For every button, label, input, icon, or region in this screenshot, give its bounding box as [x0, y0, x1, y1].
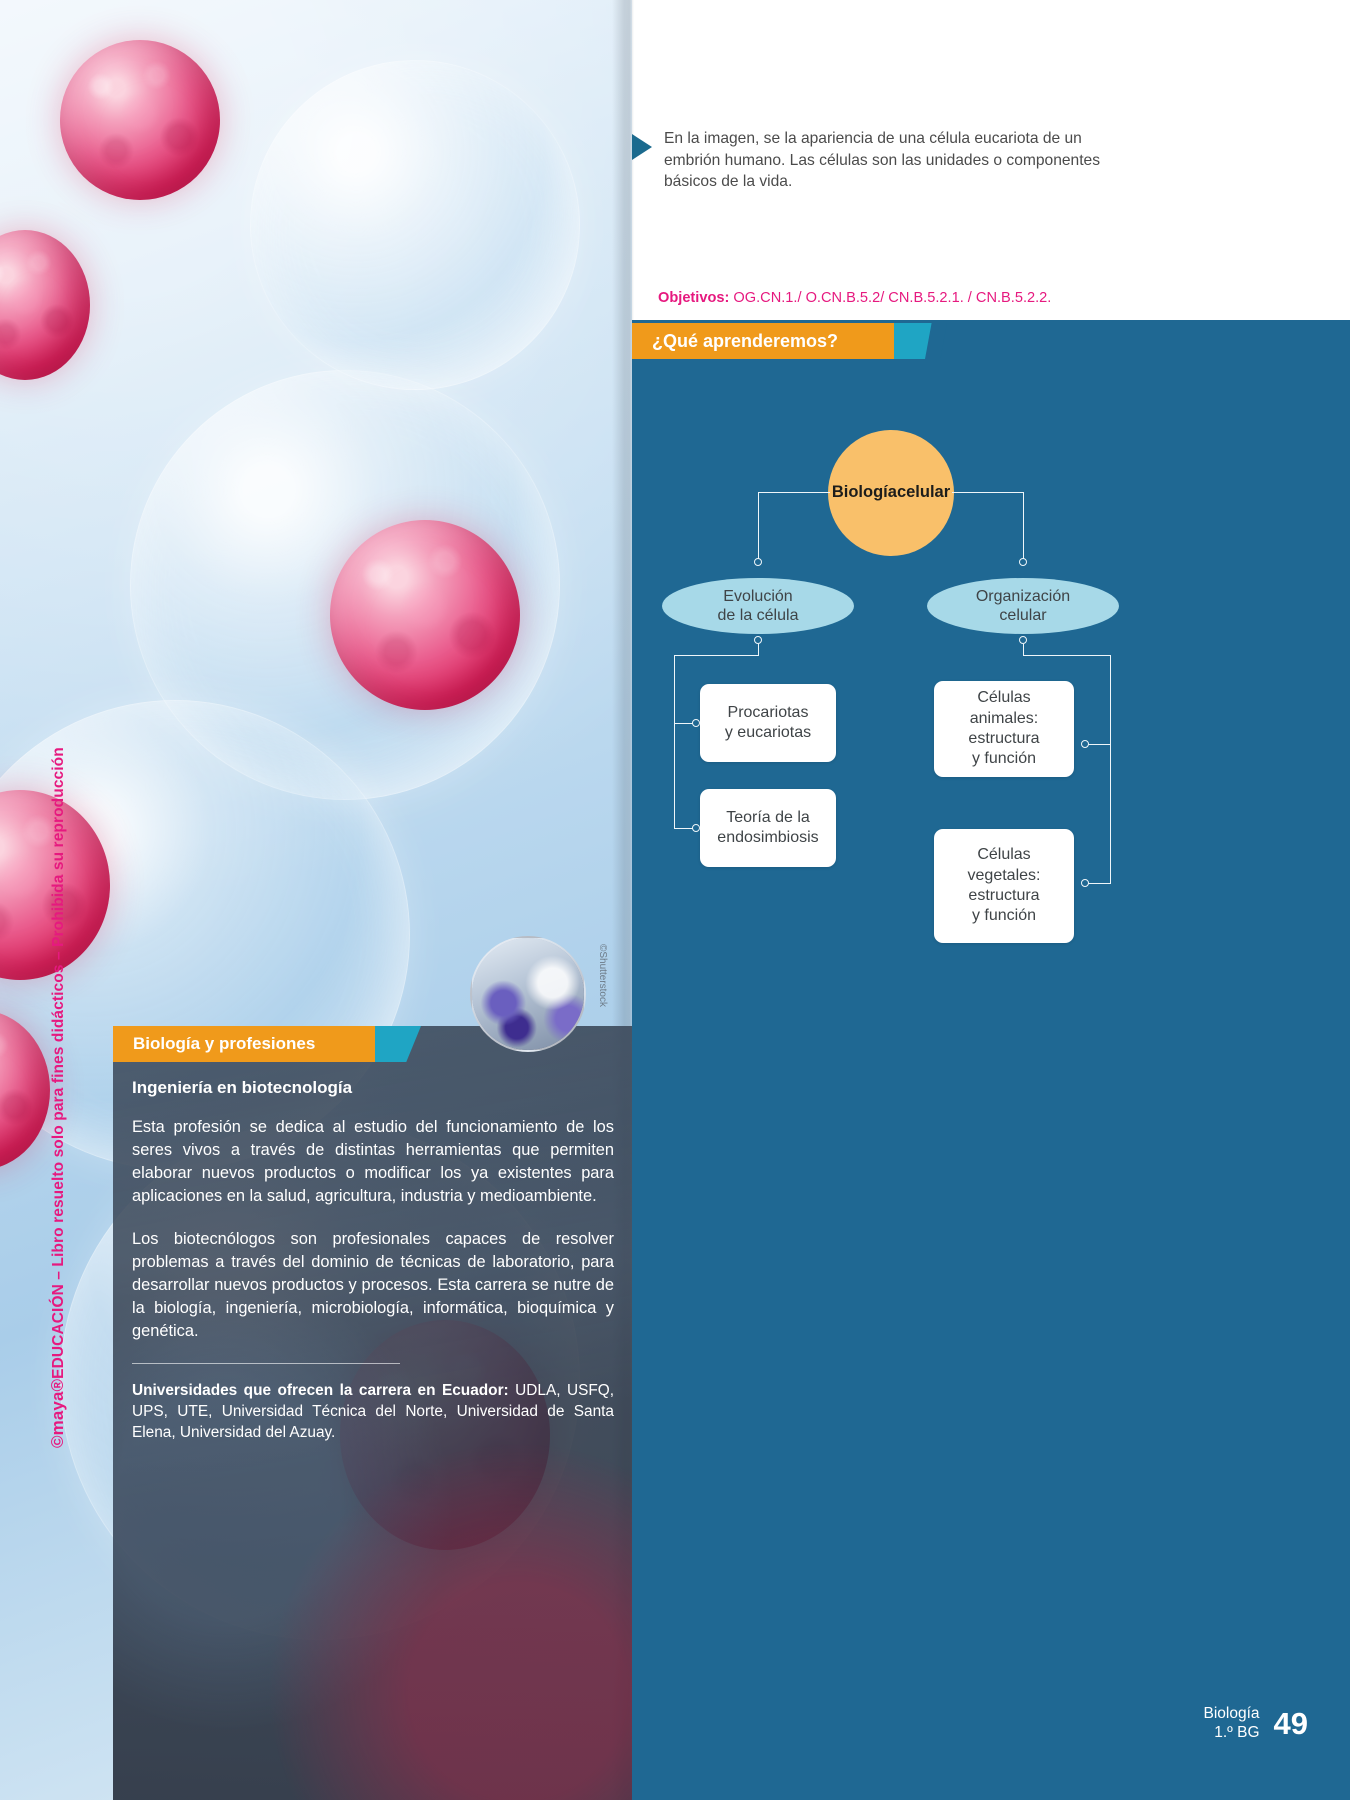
connector-dot	[1019, 558, 1027, 566]
scientist-photo-avatar	[470, 936, 586, 1052]
triangle-bullet-icon	[632, 134, 652, 160]
profession-paragraph-1: Esta profesión se dedica al estudio del …	[132, 1116, 614, 1208]
connector-dot	[692, 719, 700, 727]
copyright-strip-text: EDUCACIÓN – Libro resuelto solo para fin…	[50, 747, 67, 1379]
page-number: 49	[1274, 1706, 1308, 1742]
biologia-profesiones-label: Biología y profesiones	[133, 1034, 315, 1054]
concept-leaf-celulas-vegetales: Células vegetales: estructura y función	[934, 829, 1074, 943]
photo-credit-label: ©Shutterstock	[597, 944, 608, 1007]
objetivos-label: Objetivos:	[658, 290, 729, 306]
branch-organizacion-line2: celular	[999, 607, 1046, 624]
leaf-procariotas-line1: Procariotas y eucariotas	[725, 704, 811, 741]
concept-branch-evolucion: Evolución de la célula	[662, 578, 854, 634]
connector-line	[1088, 744, 1111, 745]
leaf-celulas-animales-text: Células animales: estructura y función	[968, 689, 1039, 767]
branch-evolucion-line2: de la célula	[718, 607, 799, 624]
lab-photo	[472, 938, 584, 1050]
concept-root-line1: Biología	[832, 483, 897, 502]
image-caption: En la imagen, se la apariencia de una cé…	[632, 128, 1132, 193]
universities-line: Universidades que ofrecen la carrera en …	[132, 1380, 614, 1444]
branch-organizacion-line1: Organización	[976, 588, 1070, 605]
connector-line	[674, 655, 759, 656]
connector-dot	[1081, 879, 1089, 887]
connector-dot	[1019, 636, 1027, 644]
concept-root-line2: celular	[897, 483, 950, 502]
concept-leaf-procariotas: Procariotas y eucariotas	[700, 684, 836, 762]
connector-line	[1023, 655, 1111, 656]
objetivos-codes: OG.CN.1./ O.CN.B.5.2/ CN.B.5.2.1. / CN.B…	[729, 290, 1051, 306]
connector-dot	[754, 636, 762, 644]
bubble-shape	[250, 60, 580, 390]
concept-leaf-celulas-animales: Células animales: estructura y función	[934, 681, 1074, 777]
connector-line	[952, 492, 1024, 493]
caption-text: En la imagen, se la apariencia de una cé…	[664, 128, 1112, 193]
concept-root-node: Biología celular	[828, 430, 954, 556]
que-aprenderemos-banner: ¿Qué aprenderemos?	[632, 323, 894, 359]
learning-panel	[632, 320, 1350, 1800]
copyright-vertical-text: ©maya®EDUCACIÓN – Libro resuelto solo pa…	[48, 747, 68, 1448]
footer-subject: Biología 1.º BG	[1204, 1705, 1260, 1742]
section-divider	[132, 1363, 400, 1364]
objetivos-line: Objetivos: OG.CN.1./ O.CN.B.5.2/ CN.B.5.…	[658, 290, 1051, 306]
profession-title: Ingeniería en biotecnología	[132, 1078, 614, 1098]
cell-sphere	[60, 40, 220, 200]
page-footer: Biología 1.º BG 49	[1204, 1705, 1309, 1742]
leaf-celulas-vegetales-text: Células vegetales: estructura y función	[968, 846, 1041, 924]
cell-sphere	[330, 520, 520, 710]
concept-branch-organizacion: Organización celular	[927, 578, 1119, 634]
cell-sphere	[0, 230, 90, 380]
que-aprenderemos-label: ¿Qué aprenderemos?	[652, 331, 838, 352]
connector-line	[1023, 492, 1024, 562]
connector-dot	[1081, 740, 1089, 748]
connector-line	[1110, 655, 1111, 884]
textbook-page: ©maya®EDUCACIÓN – Libro resuelto solo pa…	[0, 0, 1350, 1800]
connector-line	[1088, 883, 1111, 884]
maya-brand-label: ©maya®	[48, 1379, 67, 1448]
footer-subject-line2: 1.º BG	[1214, 1724, 1259, 1741]
branch-evolucion-line1: Evolución	[723, 588, 792, 605]
biologia-profesiones-banner: Biología y profesiones	[113, 1026, 375, 1062]
universities-label: Universidades que ofrecen la carrera en …	[132, 1382, 509, 1399]
connector-line	[758, 492, 759, 562]
connector-dot	[692, 824, 700, 832]
connector-dot	[754, 558, 762, 566]
connector-line	[674, 655, 675, 829]
connector-line	[758, 492, 830, 493]
footer-subject-line1: Biología	[1204, 1705, 1260, 1722]
professions-body: Ingeniería en biotecnología Esta profesi…	[132, 1078, 614, 1443]
concept-leaf-endosimbiosis: Teoría de la endosimbiosis	[700, 789, 836, 867]
leaf-endosimbiosis-line1: Teoría de la endosimbiosis	[717, 809, 818, 846]
profession-paragraph-2: Los biotecnólogos son profesionales capa…	[132, 1228, 614, 1343]
